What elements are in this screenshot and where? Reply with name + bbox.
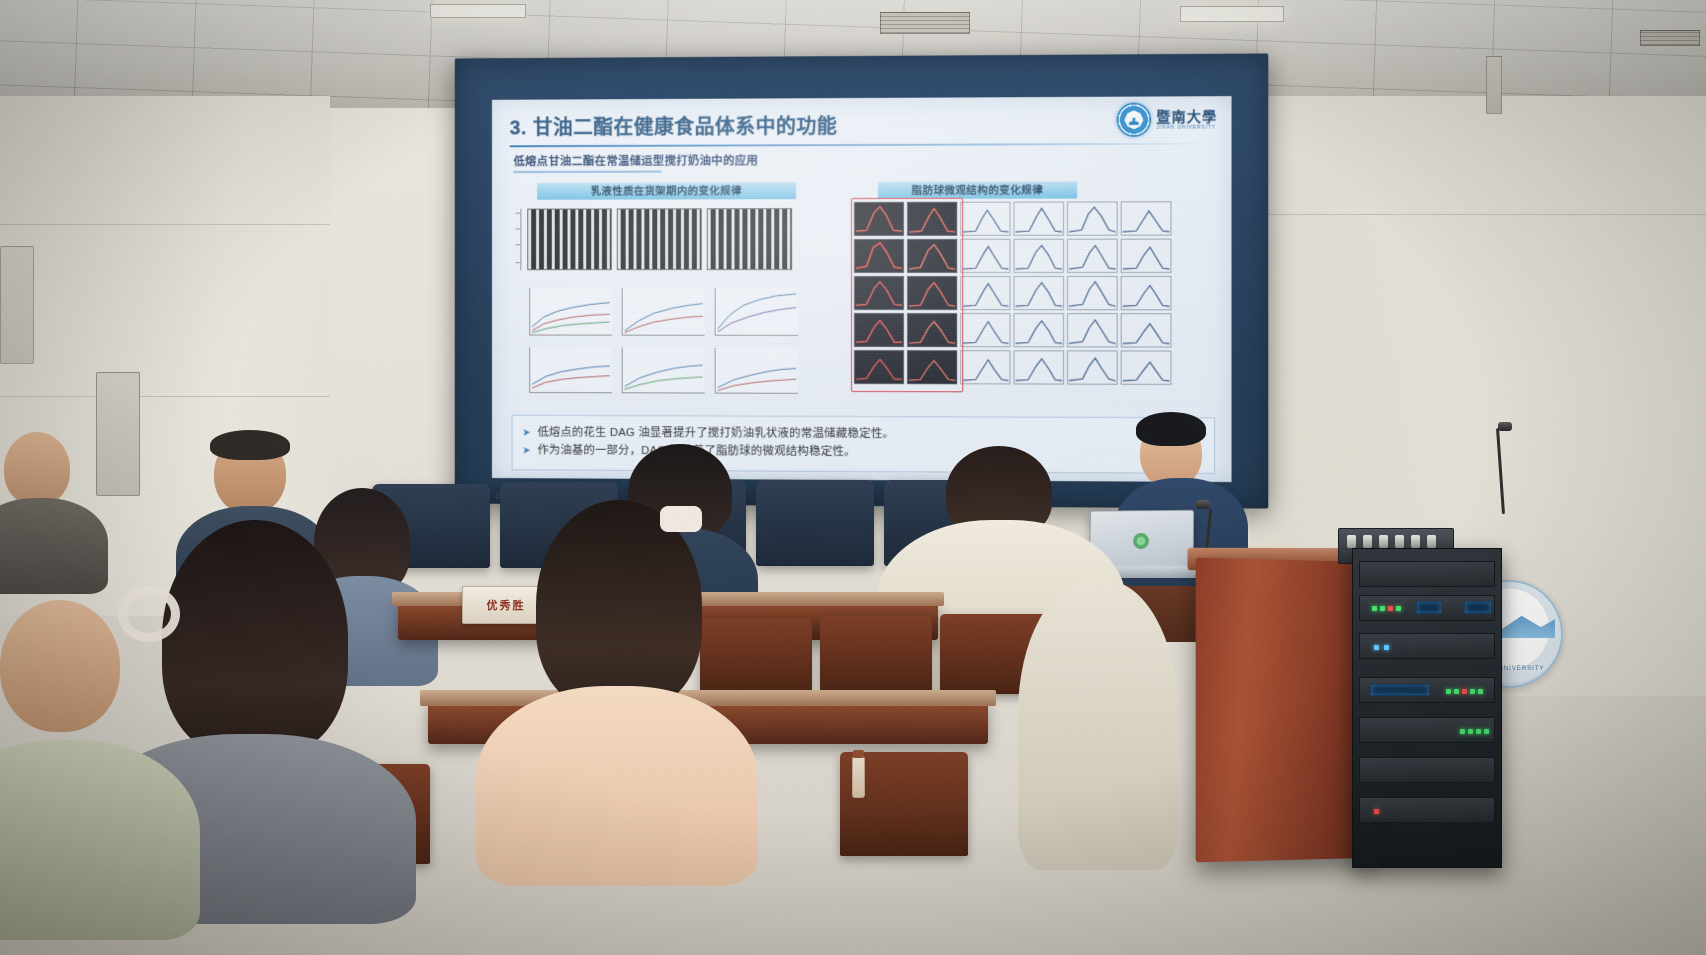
clsm-cell xyxy=(1067,276,1118,310)
rack-unit xyxy=(1359,757,1495,783)
audience-torso xyxy=(1018,580,1178,870)
mini-chart-curve xyxy=(530,347,612,392)
axis-tick xyxy=(515,262,520,263)
clsm-cell xyxy=(1067,350,1118,384)
wall-seam xyxy=(0,396,330,397)
university-name-en: JINAN UNIVERSITY xyxy=(1156,125,1217,130)
status-led xyxy=(1484,729,1489,734)
mini-chart-e: e xyxy=(529,347,612,393)
clsm-cell xyxy=(1014,239,1064,273)
status-led xyxy=(1462,689,1467,694)
rack-unit xyxy=(1359,677,1495,703)
status-led xyxy=(1396,606,1401,611)
figure-fat-globule-microstructure xyxy=(854,201,1187,398)
university-seal-icon xyxy=(1117,103,1151,137)
clsm-cell xyxy=(1067,201,1118,235)
clsm-cell xyxy=(1014,350,1064,384)
clsm-cell xyxy=(907,202,957,236)
audience-torso xyxy=(0,740,200,940)
clsm-cell xyxy=(1121,201,1172,235)
axis-tick xyxy=(515,213,520,214)
audience-head xyxy=(0,600,120,732)
ceiling-light xyxy=(430,4,526,18)
status-led xyxy=(1460,729,1465,734)
podium xyxy=(1196,558,1376,863)
mini-chart-b: b xyxy=(529,288,612,336)
status-led xyxy=(1374,645,1379,650)
slide-bullet-text: 低熔点的花生 DAG 油显著提升了搅打奶油乳状液的常温储藏稳定性。 xyxy=(537,426,894,442)
status-led xyxy=(1470,689,1475,694)
water-bottle xyxy=(852,756,865,798)
mixer-knob[interactable] xyxy=(1379,535,1388,548)
ceiling-light xyxy=(1180,6,1284,22)
clsm-cell xyxy=(854,202,904,236)
slide-title: 3. 甘油二酯在健康食品体系中的功能 xyxy=(510,108,1216,140)
clsm-grid xyxy=(854,201,1171,385)
clsm-cell xyxy=(1121,313,1172,347)
rack-display xyxy=(1370,684,1430,696)
audience-torso xyxy=(476,686,758,886)
clsm-cell xyxy=(960,239,1010,273)
clsm-cell xyxy=(960,350,1010,384)
bullet-chevron-icon: ➤ xyxy=(522,443,530,458)
micrograph-cell xyxy=(527,208,612,270)
water-bottle-cap xyxy=(853,750,864,758)
mini-chart-curve xyxy=(716,288,798,335)
clsm-cell xyxy=(1014,202,1064,236)
auditorium-chair xyxy=(756,480,874,566)
mixer-knob[interactable] xyxy=(1427,535,1436,548)
mini-chart-curve xyxy=(530,288,612,335)
status-led xyxy=(1446,689,1451,694)
wall-seam xyxy=(1250,214,1706,215)
clsm-cell xyxy=(1121,350,1172,384)
ceiling-vent xyxy=(880,12,970,34)
axis-tick xyxy=(515,244,520,245)
status-led xyxy=(1374,809,1379,814)
wall-panel xyxy=(0,246,34,364)
wall-microphone-head xyxy=(1498,422,1512,431)
status-led xyxy=(1388,606,1393,611)
wall-seam xyxy=(0,224,330,225)
rack-unit xyxy=(1359,797,1495,823)
clsm-cell xyxy=(854,276,904,310)
figure-axis xyxy=(520,209,521,270)
slide-bullet: ➤ 低熔点的花生 DAG 油显著提升了搅打奶油乳状液的常温储藏稳定性。 xyxy=(522,426,1204,444)
status-led xyxy=(1380,606,1385,611)
university-logo: 暨南大學 JINAN UNIVERSITY xyxy=(1117,102,1218,137)
micrograph-row xyxy=(527,208,792,270)
clsm-cell xyxy=(1121,239,1172,273)
rack-unit xyxy=(1359,633,1495,659)
mixer-knob[interactable] xyxy=(1411,535,1420,548)
clsm-cell xyxy=(907,313,957,347)
audience-hair xyxy=(210,430,290,460)
rack-unit xyxy=(1359,561,1495,587)
rack-unit xyxy=(1359,595,1495,621)
panel-header-left-label: 乳液性质在货架期内的变化规律 xyxy=(591,183,742,198)
clsm-cell xyxy=(907,276,957,310)
clsm-cell xyxy=(854,313,904,347)
auditorium-chair xyxy=(820,616,932,694)
status-led xyxy=(1372,606,1377,611)
mini-chart-d: d xyxy=(715,288,798,336)
clsm-cell xyxy=(960,313,1010,347)
clsm-cell xyxy=(1067,239,1118,273)
axis-tick xyxy=(515,228,520,229)
clsm-cell xyxy=(907,350,957,384)
university-name-cn: 暨南大學 xyxy=(1156,109,1217,123)
clsm-cell xyxy=(907,239,957,273)
rack-display xyxy=(1464,601,1492,614)
clsm-cell xyxy=(1014,276,1064,310)
mini-chart-curve xyxy=(716,348,798,393)
status-led xyxy=(1478,689,1483,694)
title-divider xyxy=(510,143,1216,148)
clsm-cell xyxy=(1014,313,1064,347)
micrograph-cell xyxy=(707,208,792,270)
clsm-cell xyxy=(854,350,904,384)
status-led xyxy=(1476,729,1481,734)
subtitle-underline xyxy=(514,171,662,173)
mixer-knob[interactable] xyxy=(1347,535,1356,548)
micrograph-cell xyxy=(617,208,702,270)
clsm-cell xyxy=(960,202,1010,236)
mixer-knob[interactable] xyxy=(1363,535,1372,548)
wall-conduit xyxy=(1486,56,1502,114)
slide-subtitle: 低熔点甘油二酯在常温储运型搅打奶油中的应用 xyxy=(514,152,759,169)
mini-chart-f: f xyxy=(622,348,705,394)
desk-microphone-head xyxy=(1196,500,1210,509)
clsm-cell xyxy=(1121,276,1172,310)
audience-torso xyxy=(0,498,108,594)
panel-header-right-label: 脂肪球微观结构的变化规律 xyxy=(912,182,1044,197)
hair-clip xyxy=(660,506,702,532)
hair-clip xyxy=(118,586,180,642)
audience-member-foreground xyxy=(0,590,190,930)
figure-emulsion-shelf-life: b c d xyxy=(515,202,812,397)
panel-header-right: 脂肪球微观结构的变化规律 xyxy=(878,181,1077,199)
mini-chart-c: c xyxy=(622,288,705,336)
mini-chart-curve xyxy=(623,288,705,335)
mixer-knob[interactable] xyxy=(1395,535,1404,548)
audience-head xyxy=(4,432,70,506)
mini-chart-g: g xyxy=(715,348,798,394)
status-led xyxy=(1454,689,1459,694)
bullet-chevron-icon: ➤ xyxy=(522,426,530,441)
audience-member-foreground xyxy=(482,500,752,880)
audience-member xyxy=(0,428,108,578)
clsm-cell xyxy=(1067,313,1118,347)
panel-header-left: 乳液性质在货架期内的变化规律 xyxy=(537,182,796,200)
status-led xyxy=(1384,645,1389,650)
conference-room-photo: 暨南大學 JINAN UNIVERSITY 3. 甘油二酯在健康食品体系中的功能… xyxy=(0,0,1706,955)
clsm-cell xyxy=(960,276,1010,310)
av-equipment-rack xyxy=(1352,548,1502,868)
audience-member xyxy=(1018,520,1178,870)
rack-unit xyxy=(1359,717,1495,743)
university-logo-text: 暨南大學 JINAN UNIVERSITY xyxy=(1156,109,1217,130)
clsm-cell xyxy=(854,239,904,273)
ceiling-vent xyxy=(1640,30,1700,46)
mini-chart-curve xyxy=(623,348,705,393)
status-led xyxy=(1468,729,1473,734)
presenter-hair xyxy=(1136,412,1206,446)
rack-display xyxy=(1416,601,1442,614)
